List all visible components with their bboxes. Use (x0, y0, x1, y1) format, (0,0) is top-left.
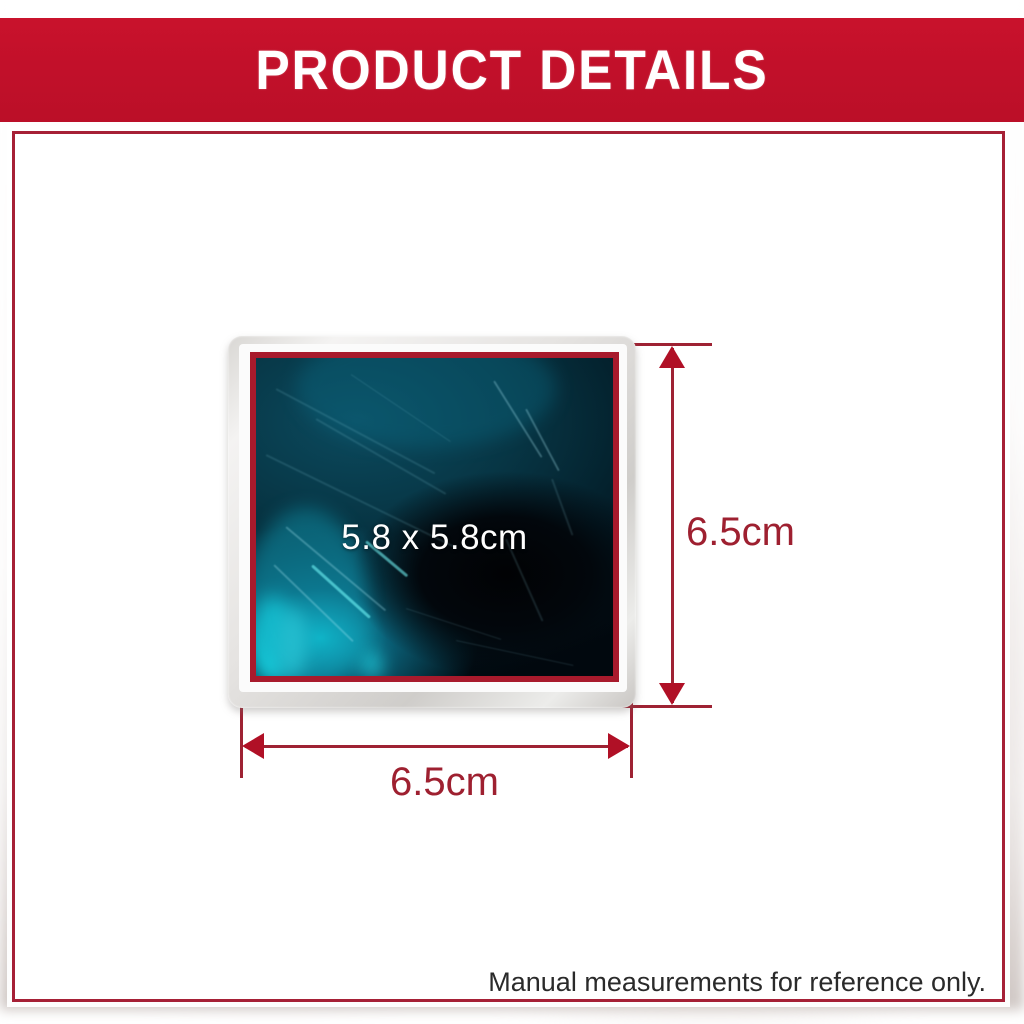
highlight-top-sheen (296, 352, 556, 448)
height-arrow-up-icon (659, 346, 685, 368)
width-arrow-right-icon (608, 733, 630, 759)
highlight-cyan-small (364, 652, 380, 678)
product-details-page: PRODUCT DETAILS 6.5cm 6.5cm (0, 0, 1024, 1024)
width-dimension-label: 6.5cm (390, 762, 499, 802)
width-dimension-line (245, 745, 628, 748)
width-arrow-left-icon (242, 733, 264, 759)
product-image: 5.8 x 5.8cm (228, 336, 636, 708)
product-face-surface: 5.8 x 5.8cm (250, 352, 619, 682)
height-arrow-down-icon (659, 683, 685, 705)
header-banner: PRODUCT DETAILS (0, 18, 1024, 122)
height-dimension-label: 6.5cm (686, 512, 795, 552)
product-size-label: 5.8 x 5.8cm (256, 518, 613, 558)
page-title: PRODUCT DETAILS (255, 42, 768, 98)
measurement-disclaimer: Manual measurements for reference only. (488, 969, 986, 996)
height-dimension-line (671, 348, 674, 703)
